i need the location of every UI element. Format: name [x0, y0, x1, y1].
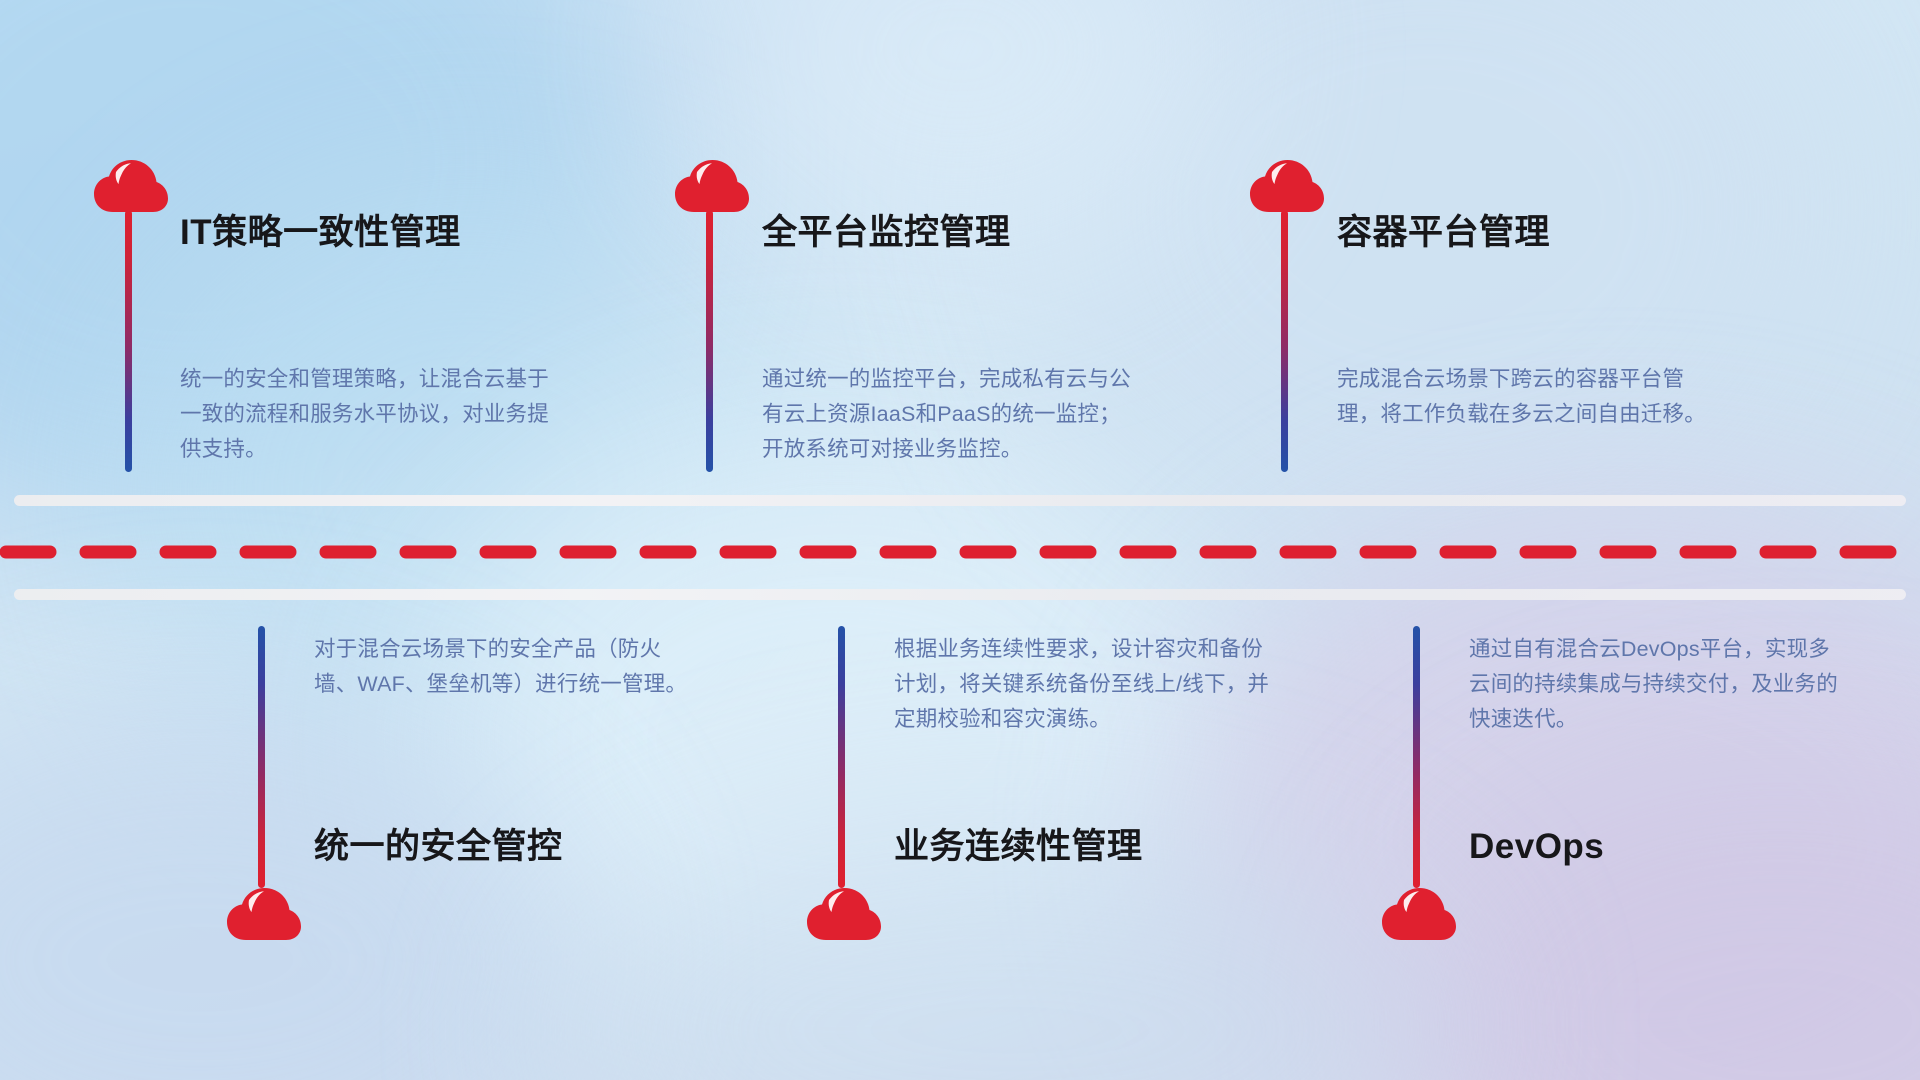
- cloud-icon: [94, 160, 168, 214]
- divider-rail-bottom: [14, 589, 1906, 600]
- card-heading-devops: DevOps: [1469, 828, 1604, 867]
- card-heading-full-platform-monitoring: 全平台监控管理: [762, 214, 1011, 253]
- card-heading-container-platform: 容器平台管理: [1337, 214, 1550, 253]
- cloud-icon: [1382, 888, 1456, 942]
- background-blob: [1020, 0, 1840, 560]
- cloud-icon: [807, 888, 881, 942]
- connector-stem: [125, 210, 132, 472]
- cloud-icon: [675, 160, 749, 214]
- cloud-icon: [1250, 160, 1324, 214]
- card-body-container-platform: 完成混合云场景下跨云的容器平台管理，将工作负载在多云之间自由迁移。: [1337, 362, 1717, 432]
- card-heading-unified-security-control: 统一的安全管控: [314, 828, 563, 867]
- card-heading-it-policy-consistency: IT策略一致性管理: [180, 214, 461, 253]
- connector-stem: [706, 210, 713, 472]
- divider-dashed-line: [0, 545, 1920, 559]
- background-blob: [1180, 500, 1920, 1080]
- card-body-business-continuity: 根据业务连续性要求，设计容灾和备份计划，将关键系统备份至线上/线下，并定期校验和…: [894, 632, 1274, 736]
- connector-stem: [1413, 626, 1420, 888]
- card-body-devops: 通过自有混合云DevOps平台，实现多云间的持续集成与持续交付，及业务的快速迭代…: [1469, 632, 1849, 736]
- cloud-icon: [227, 888, 301, 942]
- connector-stem: [1281, 210, 1288, 472]
- card-heading-business-continuity: 业务连续性管理: [894, 828, 1143, 867]
- infographic-canvas: IT策略一致性管理 统一的安全和管理策略，让混合云基于一致的流程和服务水平协议，…: [0, 0, 1920, 1080]
- connector-stem: [838, 626, 845, 888]
- card-body-unified-security-control: 对于混合云场景下的安全产品（防火墙、WAF、堡垒机等）进行统一管理。: [314, 632, 694, 702]
- background-blob: [120, 180, 820, 800]
- card-body-it-policy-consistency: 统一的安全和管理策略，让混合云基于一致的流程和服务水平协议，对业务提供支持。: [180, 362, 560, 466]
- card-body-full-platform-monitoring: 通过统一的监控平台，完成私有云与公有云上资源IaaS和PaaS的统一监控；开放系…: [762, 362, 1142, 466]
- connector-stem: [258, 626, 265, 888]
- divider-rail-top: [14, 495, 1906, 506]
- background-blob: [1400, 760, 1920, 1080]
